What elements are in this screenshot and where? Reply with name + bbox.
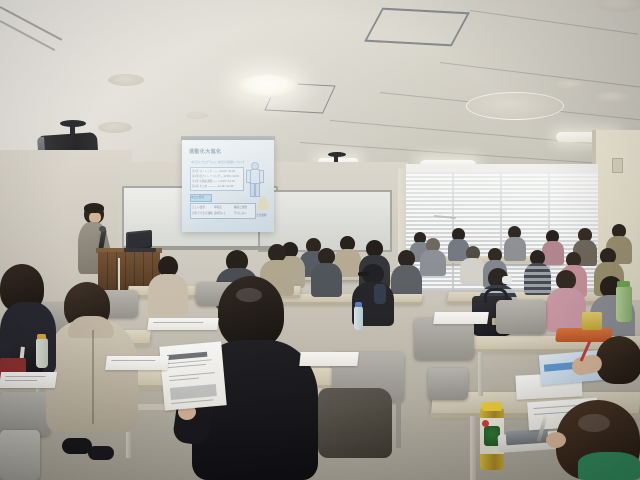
handout-block <box>170 384 217 400</box>
water-bottle-clear <box>354 306 363 330</box>
attendee-body <box>460 258 485 284</box>
tea-bottle-label-dot <box>482 420 489 427</box>
desk-mid-center-edge <box>276 302 423 305</box>
bottle-left-cap <box>37 334 46 339</box>
printed-handout[interactable] <box>159 341 226 410</box>
tea-bottle-green-cap <box>482 402 502 411</box>
hair-highlight <box>236 288 262 302</box>
ceiling-lamp-center <box>236 74 298 98</box>
desk-leg <box>478 352 483 396</box>
attendee-body <box>546 288 586 332</box>
seminar-room-photo: 運動化大進化 本日のプログラムと本日の目標について 第1部 ストレッチ ─── … <box>0 0 640 480</box>
ceiling-diffuser-7 <box>186 112 208 119</box>
chair-back[interactable] <box>496 300 546 334</box>
chair-back[interactable] <box>414 318 474 360</box>
cap-brim <box>358 272 370 276</box>
paper-on-desk[interactable] <box>299 352 358 366</box>
attendee-body <box>148 274 188 316</box>
chair-back[interactable] <box>0 430 40 480</box>
podium-cable <box>118 258 120 294</box>
scarf <box>374 284 386 304</box>
attendee-right-writing-head <box>596 336 640 384</box>
wall-fixture <box>612 158 623 173</box>
screen-projection-glare <box>182 140 274 232</box>
attendee-body <box>542 241 564 265</box>
coat-on-chair <box>318 388 392 458</box>
presenter-laptop-base <box>124 248 156 252</box>
attendee-hand-writing <box>546 432 566 448</box>
water-bottle-right-cap <box>617 281 630 287</box>
ceiling-vent-left <box>364 8 470 47</box>
shoe <box>88 446 114 460</box>
attendee-front-green-body <box>578 452 640 480</box>
microphone-head <box>99 226 106 232</box>
paper-on-desk[interactable] <box>433 312 489 324</box>
cup-yellow <box>582 312 602 330</box>
paper-on-desk[interactable] <box>0 372 57 388</box>
jacket-seam <box>92 330 94 424</box>
ceiling-diffuser-3 <box>466 92 564 120</box>
attendee-body <box>504 237 526 261</box>
paper-on-desk[interactable] <box>147 318 219 330</box>
paper-on-desk[interactable] <box>105 356 169 370</box>
water-bottle-right <box>616 286 632 322</box>
attendee-front-black-top-head <box>218 276 284 348</box>
hair-highlight <box>578 414 610 432</box>
presenter-laptop-display <box>128 232 150 248</box>
attendee-body <box>311 263 342 297</box>
desk-leg <box>470 416 476 480</box>
ceiling-diffuser-6 <box>596 92 630 102</box>
ceiling-diffuser-1 <box>108 74 144 86</box>
presenter-hair-front <box>84 203 104 213</box>
jacket-hood <box>68 316 114 338</box>
water-bottle-clear-cap <box>355 302 362 307</box>
attendee-body <box>420 250 446 276</box>
handout-header-bar <box>167 352 207 360</box>
ceiling-diffuser-5 <box>556 80 586 89</box>
attendee-head <box>556 270 576 290</box>
ceiling-diffuser-2 <box>98 122 132 133</box>
face-mask <box>502 276 512 284</box>
chair-leg <box>396 400 401 448</box>
chair-back[interactable] <box>428 368 468 400</box>
attendee-body-striped <box>524 263 551 295</box>
bottle-left <box>36 338 48 368</box>
